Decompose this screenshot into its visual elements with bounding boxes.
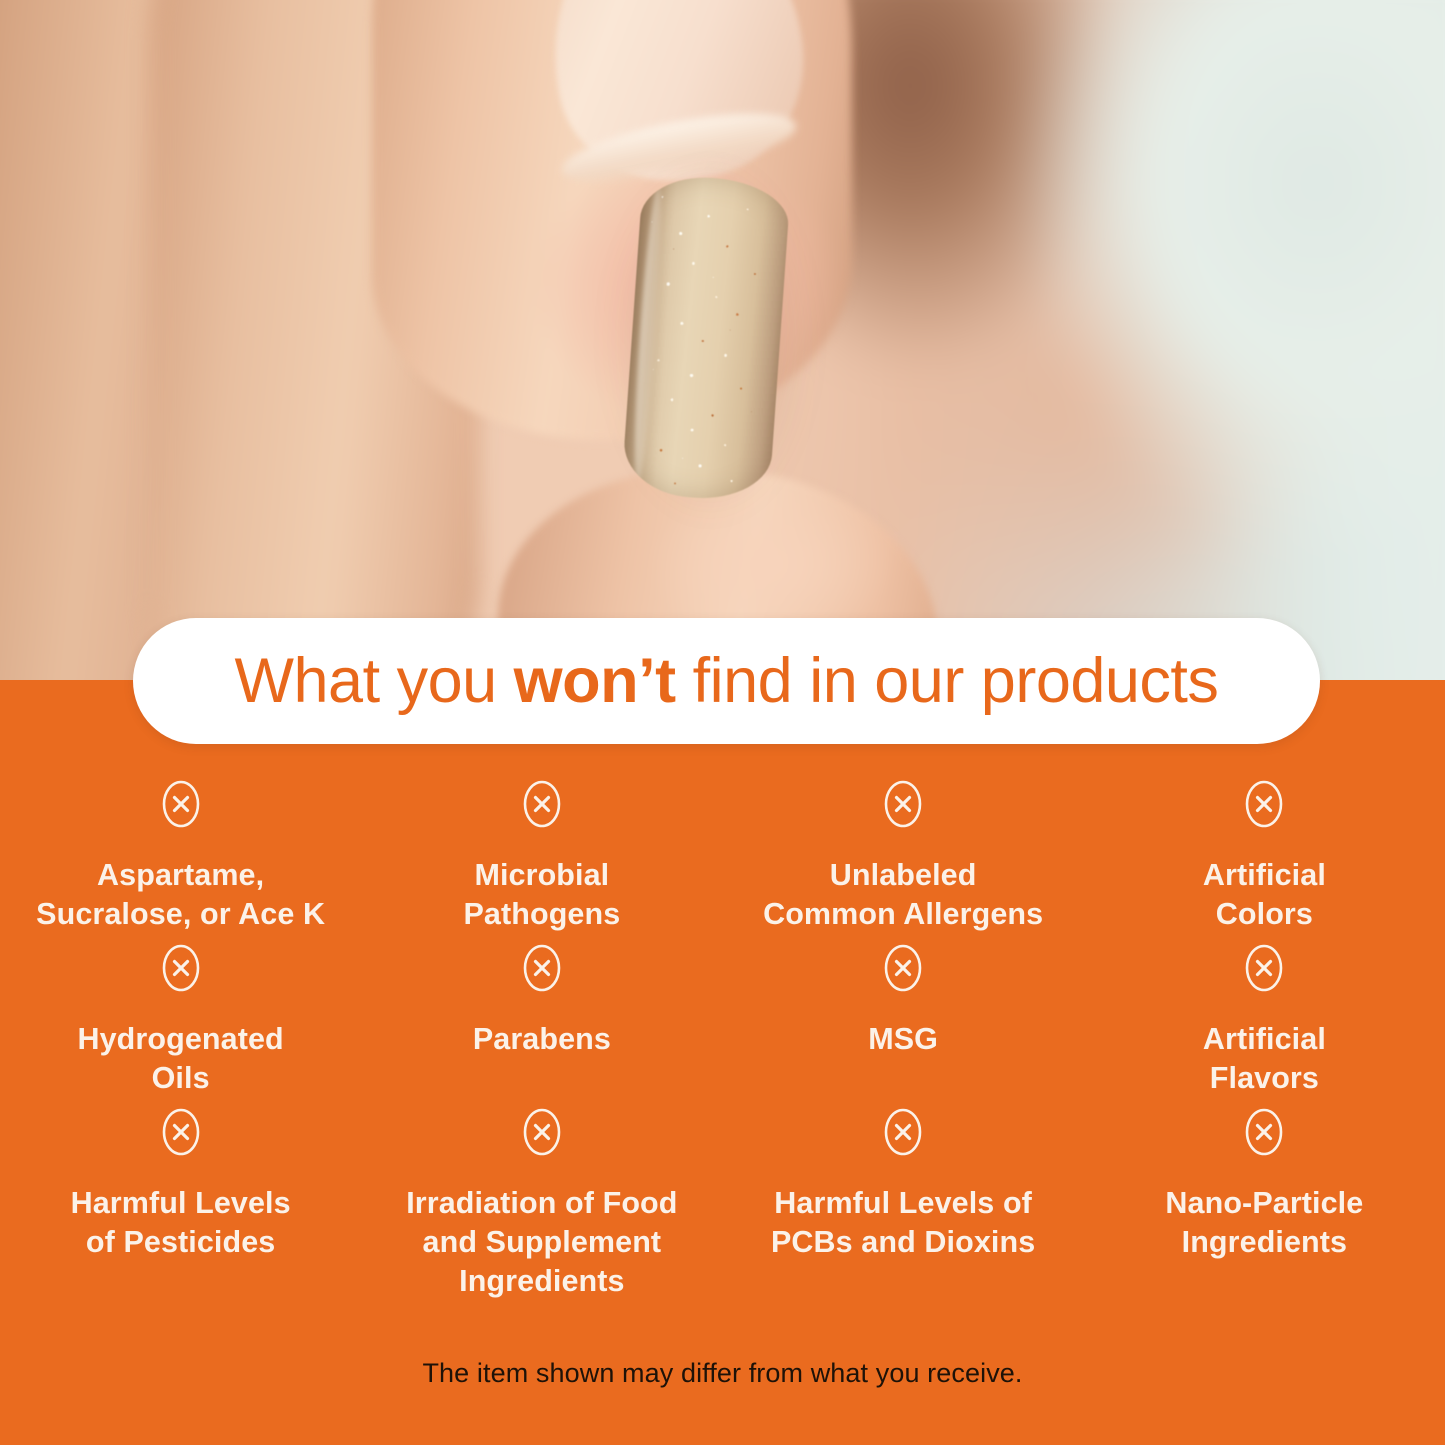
- claim-item-label: Parabens: [473, 1020, 611, 1059]
- product-photo: [0, 0, 1445, 690]
- claim-item: Aspartame,Sucralose, or Ace K: [0, 780, 361, 934]
- circle-x-icon: [161, 780, 201, 828]
- tablet-icon: [621, 173, 791, 503]
- claim-item-label: MicrobialPathogens: [463, 856, 620, 934]
- circle-x-icon: [1244, 944, 1284, 992]
- product-claims-poster: What you won’t find in our products Aspa…: [0, 0, 1445, 1445]
- circle-x-icon: [883, 780, 923, 828]
- circle-x-icon: [883, 1108, 923, 1156]
- claim-item: Irradiation of Foodand SupplementIngredi…: [361, 1108, 722, 1301]
- claim-item: HydrogenatedOils: [0, 944, 361, 1098]
- circle-x-icon: [161, 1108, 201, 1156]
- claim-item-label: Nano-ParticleIngredients: [1165, 1184, 1363, 1262]
- claim-item: Parabens: [361, 944, 722, 1098]
- claim-item: ArtificialColors: [1084, 780, 1445, 934]
- headline-pill: What you won’t find in our products: [133, 618, 1320, 744]
- claim-item: ArtificialFlavors: [1084, 944, 1445, 1098]
- disclaimer-text: The item shown may differ from what you …: [0, 1358, 1445, 1389]
- headline-part-2: find in our products: [676, 646, 1219, 716]
- claim-item-label: Harmful Levelsof Pesticides: [71, 1184, 291, 1262]
- claim-item: Harmful Levelsof Pesticides: [0, 1108, 361, 1301]
- circle-x-icon: [522, 944, 562, 992]
- claim-item-label: Irradiation of Foodand SupplementIngredi…: [406, 1184, 677, 1301]
- claim-item: Harmful Levels ofPCBs and Dioxins: [723, 1108, 1084, 1301]
- claim-item: UnlabeledCommon Allergens: [723, 780, 1084, 934]
- claim-item-label: Aspartame,Sucralose, or Ace K: [36, 856, 325, 934]
- claim-item-label: ArtificialColors: [1203, 856, 1326, 934]
- claim-item: MicrobialPathogens: [361, 780, 722, 934]
- claim-item-label: UnlabeledCommon Allergens: [763, 856, 1043, 934]
- claim-item-label: ArtificialFlavors: [1203, 1020, 1326, 1098]
- claim-item-label: HydrogenatedOils: [77, 1020, 283, 1098]
- page-title: What you won’t find in our products: [235, 650, 1219, 713]
- circle-x-icon: [522, 1108, 562, 1156]
- claim-item-label: Harmful Levels ofPCBs and Dioxins: [771, 1184, 1035, 1262]
- claim-item-label: MSG: [868, 1020, 938, 1059]
- circle-x-icon: [1244, 1108, 1284, 1156]
- claim-item: MSG: [723, 944, 1084, 1098]
- circle-x-icon: [161, 944, 201, 992]
- circle-x-icon: [1244, 780, 1284, 828]
- claim-item: Nano-ParticleIngredients: [1084, 1108, 1445, 1301]
- circle-x-icon: [522, 780, 562, 828]
- headline-part-1: What you: [235, 646, 514, 716]
- headline-emphasis: won’t: [514, 646, 676, 716]
- circle-x-icon: [883, 944, 923, 992]
- claims-grid: Aspartame,Sucralose, or Ace KMicrobialPa…: [0, 780, 1445, 1301]
